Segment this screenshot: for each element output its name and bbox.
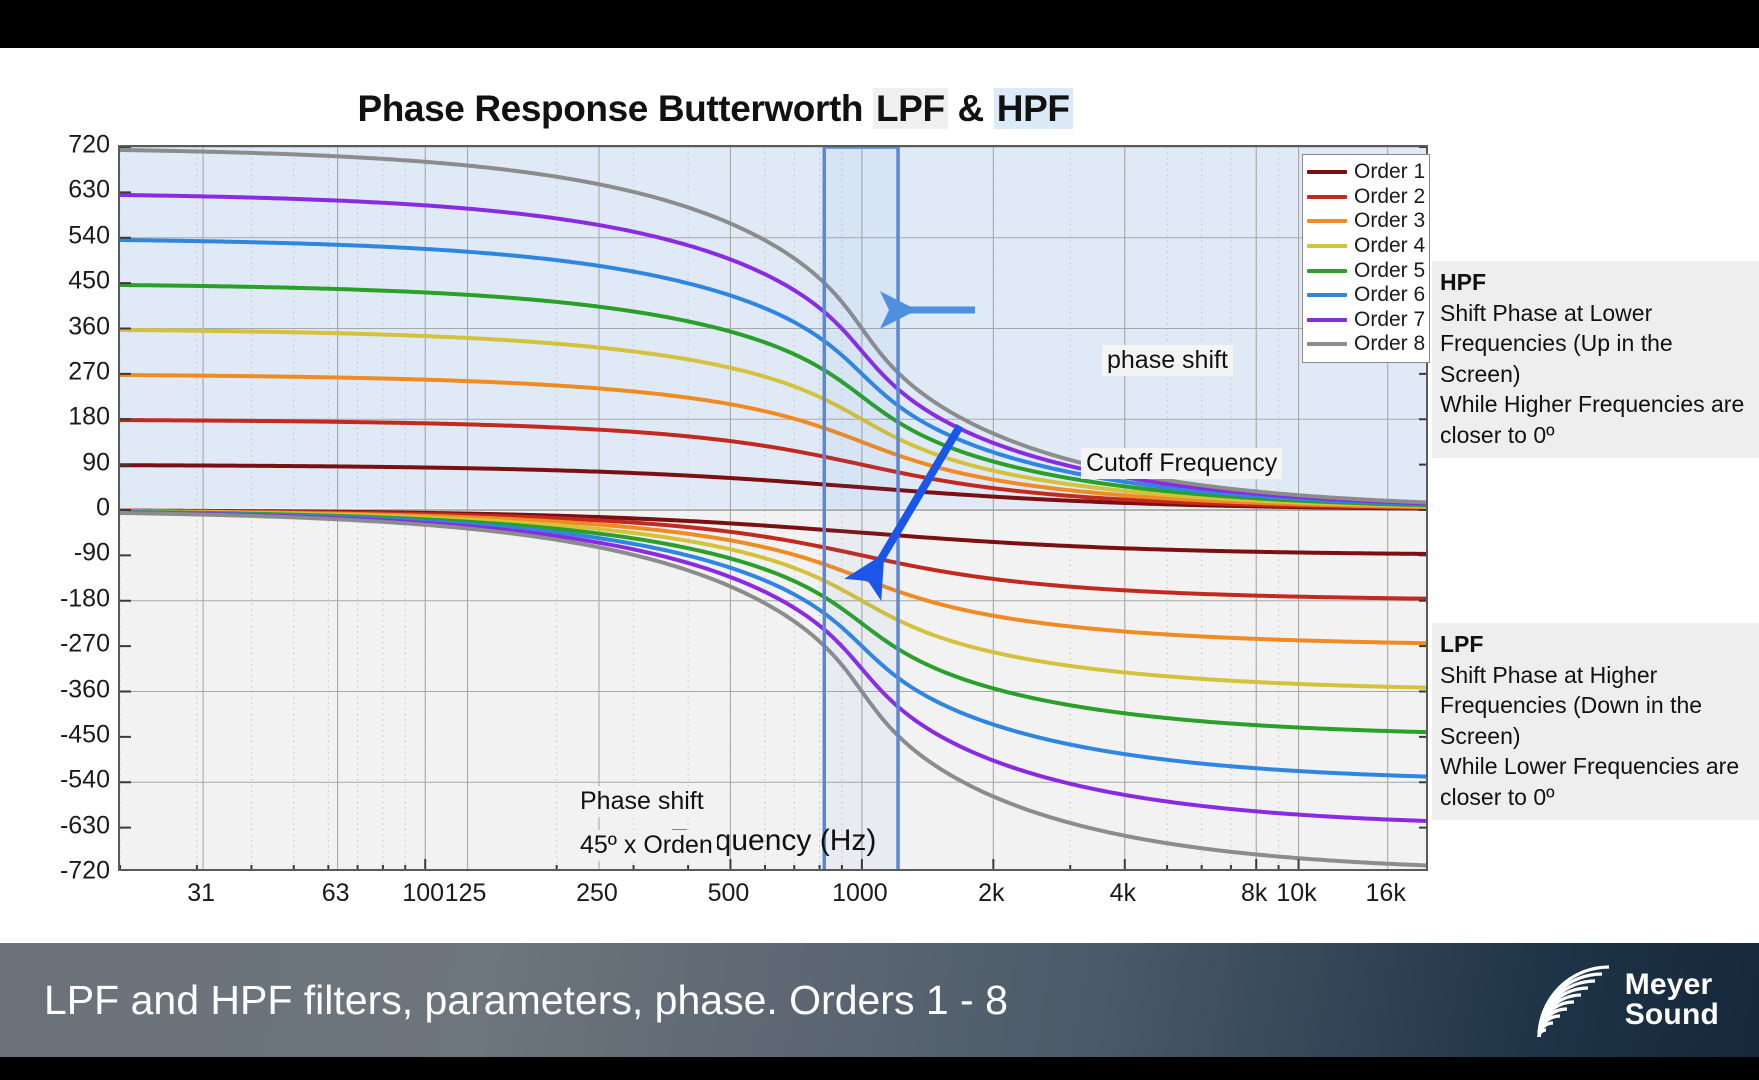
logo-arcs-icon — [1537, 963, 1611, 1037]
x-tick-label: 10k — [1276, 879, 1316, 908]
y-tick-label: -630 — [14, 811, 110, 840]
y-tick-label: 360 — [14, 312, 110, 341]
legend-item: Order 6 — [1307, 283, 1423, 308]
y-tick-label: 90 — [14, 448, 110, 477]
x-tick-label: 4k — [1110, 879, 1136, 908]
callout-lpf-line1: Shift Phase at Higher — [1440, 660, 1751, 691]
legend-item: Order 2 — [1307, 185, 1423, 210]
slide-body: Phase Response Butterworth LPF & HPF 720… — [0, 48, 1759, 943]
legend-item: Order 1 — [1307, 160, 1423, 185]
callout-lpf-line2: Frequencies (Down in the — [1440, 690, 1751, 721]
y-tick-label: -720 — [14, 857, 110, 886]
annotation-formula-line1: Phase shift — [576, 786, 708, 817]
y-tick-label: 0 — [14, 494, 110, 523]
annotation-formula-line2: 45º x Orden — [576, 830, 717, 861]
caption-bar: LPF and HPF filters, parameters, phase. … — [0, 943, 1759, 1057]
x-tick-label: 2k — [978, 879, 1004, 908]
letterbox-bottom — [0, 1057, 1759, 1080]
legend-label: Order 2 — [1354, 185, 1425, 209]
y-tick-label: -270 — [14, 630, 110, 659]
x-axis-title: Frequency (Hz) — [118, 824, 1428, 858]
meyer-sound-logo-mark — [1537, 963, 1611, 1037]
legend-color-swatch — [1307, 293, 1347, 297]
callout-hpf-line4: While Higher Frequencies are — [1440, 389, 1751, 420]
y-tick-label: 630 — [14, 176, 110, 205]
legend-label: Order 6 — [1354, 283, 1425, 307]
meyer-sound-logo-text: Meyer Sound — [1625, 970, 1719, 1030]
legend-color-swatch — [1307, 170, 1347, 174]
y-tick-label: 270 — [14, 357, 110, 386]
callout-hpf-line3: Screen) — [1440, 359, 1751, 390]
legend-color-swatch — [1307, 269, 1347, 273]
y-tick-label: -360 — [14, 675, 110, 704]
letterbox-top — [0, 0, 1759, 48]
y-tick-label: -180 — [14, 584, 110, 613]
callout-hpf-heading: HPF — [1440, 267, 1751, 298]
annotation-phase-shift: phase shift — [1102, 345, 1233, 376]
x-tick-label: 1000 — [832, 879, 888, 908]
legend-label: Order 5 — [1354, 259, 1425, 283]
x-tick-label: 63 — [322, 879, 350, 908]
x-tick-label: 8k — [1241, 879, 1267, 908]
annotation-cutoff-frequency: Cutoff Frequency — [1081, 448, 1282, 479]
legend-item: Order 7 — [1307, 308, 1423, 333]
legend-color-swatch — [1307, 318, 1347, 322]
legend-label: Order 8 — [1354, 332, 1425, 356]
x-tick-label: 500 — [708, 879, 750, 908]
x-tick-label: 16k — [1366, 879, 1406, 908]
meyer-sound-logo: Meyer Sound — [1537, 963, 1719, 1037]
logo-line-1: Meyer — [1625, 970, 1719, 1000]
legend-item: Order 4 — [1307, 234, 1423, 259]
callout-lpf-line5: closer to 0º — [1440, 782, 1751, 813]
x-tick-label: 125 — [445, 879, 487, 908]
y-tick-label: 450 — [14, 267, 110, 296]
title-lpf-highlight: LPF — [873, 88, 948, 129]
y-tick-label: -540 — [14, 766, 110, 795]
title-main-text: Phase Response Butterworth — [357, 88, 873, 129]
callout-lpf-line4: While Lower Frequencies are — [1440, 751, 1751, 782]
x-tick-label: 100 — [402, 879, 444, 908]
chart-container: 720630540450360270180900-90-180-270-360-… — [118, 145, 1428, 871]
legend-item: Order 8 — [1307, 332, 1423, 357]
legend-item: Order 5 — [1307, 258, 1423, 283]
y-tick-label: -90 — [14, 539, 110, 568]
logo-line-2: Sound — [1625, 1000, 1719, 1030]
callout-lpf-heading: LPF — [1440, 629, 1751, 660]
x-tick-label: 31 — [187, 879, 215, 908]
legend-color-swatch — [1307, 244, 1347, 248]
title-ampersand: & — [948, 88, 994, 129]
page-title: Phase Response Butterworth LPF & HPF — [0, 88, 1430, 130]
y-tick-label: -450 — [14, 720, 110, 749]
y-tick-label: 540 — [14, 221, 110, 250]
x-tick-label: 250 — [576, 879, 618, 908]
title-hpf-highlight: HPF — [994, 88, 1073, 129]
caption-text: LPF and HPF filters, parameters, phase. … — [44, 977, 1008, 1024]
chart-legend: Order 1Order 2Order 3Order 4Order 5Order… — [1302, 154, 1430, 363]
legend-label: Order 7 — [1354, 308, 1425, 332]
legend-color-swatch — [1307, 342, 1347, 346]
slide-root: Phase Response Butterworth LPF & HPF 720… — [0, 0, 1759, 1080]
y-tick-label: 180 — [14, 403, 110, 432]
legend-color-swatch — [1307, 195, 1347, 199]
legend-label: Order 3 — [1354, 209, 1425, 233]
legend-item: Order 3 — [1307, 209, 1423, 234]
legend-label: Order 4 — [1354, 234, 1425, 258]
callout-lpf: LPF Shift Phase at Higher Frequencies (D… — [1432, 623, 1759, 820]
legend-color-swatch — [1307, 219, 1347, 223]
callout-hpf-line2: Frequencies (Up in the — [1440, 328, 1751, 359]
y-tick-label: 720 — [14, 131, 110, 160]
callout-hpf-line5: closer to 0º — [1440, 420, 1751, 451]
plot-area — [118, 145, 1428, 871]
callout-hpf: HPF Shift Phase at Lower Frequencies (Up… — [1432, 261, 1759, 458]
callout-hpf-line1: Shift Phase at Lower — [1440, 298, 1751, 329]
callout-lpf-line3: Screen) — [1440, 721, 1751, 752]
plot-svg — [120, 147, 1428, 871]
legend-label: Order 1 — [1354, 160, 1425, 184]
